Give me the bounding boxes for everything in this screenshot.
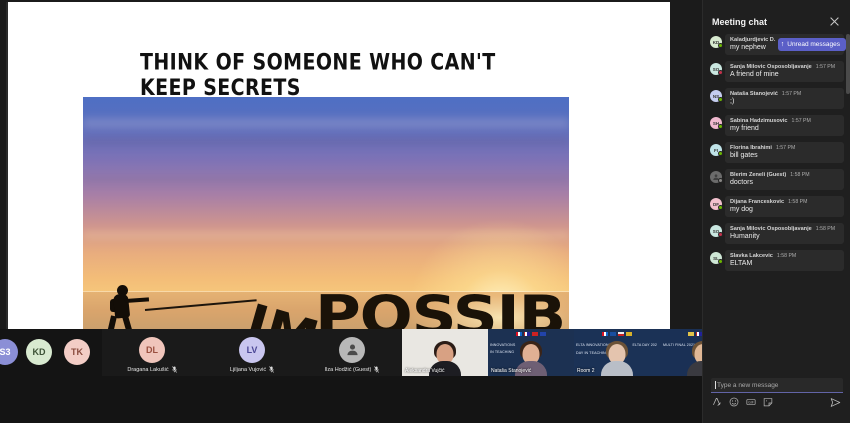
message-bubble: Dijana Franceskovic1:58 PMmy dog (725, 196, 844, 217)
message-sender-name: Florina Ibrahimi (730, 145, 772, 151)
close-icon[interactable] (828, 16, 840, 28)
message-text: doctors (730, 179, 839, 186)
flag-icon (602, 332, 608, 336)
message-header: Blerim Zeneli (Guest)1:58 PM (730, 172, 839, 178)
message-sender-name: Dijana Franceskovic (730, 199, 784, 205)
mic-muted-icon (269, 366, 274, 373)
message-timestamp: 1:58 PM (816, 226, 835, 232)
chat-message[interactable]: SOSanja Milovic Osposobljavanje1:58 PMHu… (710, 223, 844, 244)
presence-indicator (718, 178, 723, 183)
chat-compose-area: Type a new message GIF (703, 373, 850, 423)
chat-scrollbar-thumb[interactable] (846, 34, 850, 94)
virtual-background-banner (574, 329, 660, 339)
participant-name: Dragana Lakušić (127, 367, 168, 373)
video-tile-name: Nataša Stanojević (491, 368, 531, 374)
arrow-up-icon: ↑ (781, 41, 785, 48)
flag-icon (626, 332, 632, 336)
text-caret (715, 381, 716, 389)
chat-scrollbar[interactable] (846, 0, 850, 423)
mic-muted-icon (374, 366, 379, 373)
silhouette-arm (125, 297, 149, 303)
chat-message[interactable]: Blerim Zeneli (Guest)1:58 PMdoctors (710, 169, 844, 190)
participant-tile-dragana[interactable]: DL Dragana Lakušić (102, 329, 202, 376)
message-text: Humanity (730, 233, 839, 240)
message-input[interactable]: Type a new message (711, 378, 843, 393)
participant-name-row: Dragana Lakušić (102, 366, 202, 373)
message-timestamp: 1:57 PM (792, 118, 811, 124)
video-tile-aleksandra[interactable]: Aleksandra Vujčić (402, 329, 488, 376)
avatar-initials: TK (71, 347, 83, 357)
message-text: ;) (730, 98, 839, 105)
avatar-tile-group: S3 KD TK (0, 329, 102, 376)
message-bubble: Sanja Milovic Osposobljavanje1:58 PMHuma… (725, 223, 844, 244)
message-header: Sabina Hadzimusovic1:57 PM (730, 118, 839, 124)
powerpoint-slide[interactable]: THINK OF SOMEONE WHO CAN'T KEEP SECRETS (6, 2, 670, 374)
person-icon (345, 342, 360, 357)
participant-avatar-tk[interactable]: TK (64, 339, 90, 365)
message-bubble: Sanja Milovic Osposobljavanje1:57 PMA fr… (725, 61, 844, 82)
message-bubble: Nataša Stanojević1:57 PM;) (725, 88, 844, 109)
avatar: LV (239, 337, 265, 363)
message-header: Slavka Lakcevic1:58 PM (730, 253, 839, 259)
flag-icon (688, 332, 694, 336)
unread-messages-banner[interactable]: ↑ Unread messages (778, 38, 846, 51)
message-header: Sanja Milovic Osposobljavanje1:58 PM (730, 226, 839, 232)
message-bubble: Blerim Zeneli (Guest)1:58 PMdoctors (725, 169, 844, 190)
message-input-placeholder: Type a new message (717, 382, 778, 389)
message-sender-name: Sanja Milovic Osposobljavanje (730, 64, 812, 70)
message-text: ELTAM (730, 260, 839, 267)
emoji-icon[interactable] (729, 397, 739, 407)
participant-tile-ljiljana[interactable]: LV Ljiljana Vujović (202, 329, 302, 376)
torso (601, 361, 633, 376)
message-bubble: Slavka Lakcevic1:58 PMELTAM (725, 250, 844, 271)
presence-indicator (718, 259, 723, 264)
cloud-band (83, 138, 569, 145)
avatar-guest (339, 337, 365, 363)
chat-message[interactable]: SHSabina Hadzimusovic1:57 PMmy friend (710, 115, 844, 136)
message-timestamp: 1:57 PM (776, 145, 795, 151)
giphy-icon[interactable]: GIF (746, 397, 756, 407)
presence-indicator (718, 205, 723, 210)
chat-message[interactable]: SLSlavka Lakcevic1:58 PMELTAM (710, 250, 844, 271)
participant-avatar-clipped[interactable]: S3 (0, 339, 18, 365)
presence-indicator (718, 151, 723, 156)
flag-icon (610, 332, 616, 336)
banner-text-right: ELTA DAY 202 (632, 343, 657, 348)
presence-indicator (718, 232, 723, 237)
chat-message[interactable]: NSNataša Stanojević1:57 PM;) (710, 88, 844, 109)
message-text: A friend of mine (730, 71, 839, 78)
participant-name-row: Ilza Hodžić (Guest) (302, 366, 402, 373)
virtual-background-banner (488, 329, 574, 339)
avatar-initials: S3 (0, 347, 11, 357)
message-header: Dijana Franceskovic1:58 PM (730, 199, 839, 205)
format-icon[interactable] (712, 397, 722, 407)
message-bubble: Sabina Hadzimusovic1:57 PMmy friend (725, 115, 844, 136)
flag-icon (532, 332, 538, 336)
presence-indicator (718, 70, 723, 75)
message-text: bill gates (730, 152, 839, 159)
participant-name: Ljiljana Vujović (230, 367, 266, 373)
message-sender-name: Kaladjurdjevic D. (730, 37, 775, 43)
video-person (602, 344, 632, 376)
participant-name: Ilza Hodžić (Guest) (325, 367, 372, 373)
presence-indicator (718, 97, 723, 102)
avatar-initials: KD (33, 347, 46, 357)
flag-icon (516, 332, 522, 336)
video-tile-room2[interactable]: ELTA INNOVATIONS DAY IN TEACHING ELTA DA… (574, 329, 660, 376)
banner-text: INNOVATIONS (490, 343, 515, 348)
participant-tile-ilza[interactable]: Ilza Hodžić (Guest) (302, 329, 402, 376)
message-sender-name: Sabina Hadzimusovic (730, 118, 788, 124)
chat-message[interactable]: FIFlorina Ibrahimi1:57 PMbill gates (710, 142, 844, 163)
message-timestamp: 1:57 PM (782, 91, 801, 97)
message-header: Sanja Milovic Osposobljavanje1:57 PM (730, 64, 839, 70)
participant-filmstrip: S3 KD TK DL Dragana Lakušić (0, 329, 702, 376)
participant-name-row: Ljiljana Vujović (202, 366, 302, 373)
slide-title: THINK OF SOMEONE WHO CAN'T KEEP SECRETS (140, 50, 560, 101)
message-bubble: Florina Ibrahimi1:57 PMbill gates (725, 142, 844, 163)
unread-messages-label: Unread messages (787, 41, 840, 48)
message-timestamp: 1:58 PM (790, 172, 809, 178)
send-icon[interactable] (830, 397, 841, 408)
cloud-band (83, 232, 569, 238)
video-tile-name: Room 2 (577, 368, 595, 374)
presence-indicator (718, 124, 723, 129)
message-timestamp: 1:58 PM (777, 253, 796, 259)
message-timestamp: 1:58 PM (788, 199, 807, 205)
slide-title-line-1: THINK OF SOMEONE WHO CAN'T (140, 50, 560, 75)
flag-icon (540, 332, 546, 336)
avatar-initials: LV (247, 345, 258, 355)
flag-icon (618, 332, 624, 336)
message-timestamp: 1:57 PM (816, 64, 835, 70)
chat-message[interactable]: DFDijana Franceskovic1:58 PMmy dog (710, 196, 844, 217)
message-header: Nataša Stanojević1:57 PM (730, 91, 839, 97)
svg-text:GIF: GIF (748, 400, 753, 404)
message-text: my dog (730, 206, 839, 213)
message-header: Florina Ibrahimi1:57 PM (730, 145, 839, 151)
mic-muted-icon (172, 366, 177, 373)
chat-header: Meeting chat (703, 0, 850, 32)
teams-meeting-window: THINK OF SOMEONE WHO CAN'T KEEP SECRETS (0, 0, 850, 423)
chat-message-list[interactable]: KDKaladjurdjevic D.my nephewSOSanja Milo… (703, 34, 850, 372)
shared-content-stage: THINK OF SOMEONE WHO CAN'T KEEP SECRETS (0, 0, 702, 376)
video-tile-name: Aleksandra Vujčić (405, 368, 445, 374)
banner-text: IN TEACHING (490, 350, 514, 355)
avatar-initials: DL (146, 345, 158, 355)
chat-message[interactable]: SOSanja Milovic Osposobljavanje1:57 PMA … (710, 61, 844, 82)
cloud-band (83, 177, 569, 182)
message-sender-name: Nataša Stanojević (730, 91, 778, 97)
cloud-band (83, 118, 569, 128)
video-tile-natasa[interactable]: INNOVATIONS IN TEACHING Nataša Stanojevi… (488, 329, 574, 376)
avatar: DL (139, 337, 165, 363)
slide-image-impossible: IM POSSIBLE (83, 97, 569, 356)
message-sender-name: Sanja Milovic Osposobljavanje (730, 226, 812, 232)
chat-panel-title: Meeting chat (712, 17, 767, 27)
compose-toolbar: GIF (712, 397, 773, 407)
flag-icon (524, 332, 530, 336)
participant-avatar-kd[interactable]: KD (26, 339, 52, 365)
message-text: my friend (730, 125, 839, 132)
message-sender-name: Slavka Lakcevic (730, 253, 773, 259)
presence-indicator (718, 43, 723, 48)
sticker-icon[interactable] (763, 397, 773, 407)
message-sender-name: Blerim Zeneli (Guest) (730, 172, 786, 178)
meeting-chat-panel: Meeting chat ↑ Unread messages KDKaladju… (702, 0, 850, 423)
